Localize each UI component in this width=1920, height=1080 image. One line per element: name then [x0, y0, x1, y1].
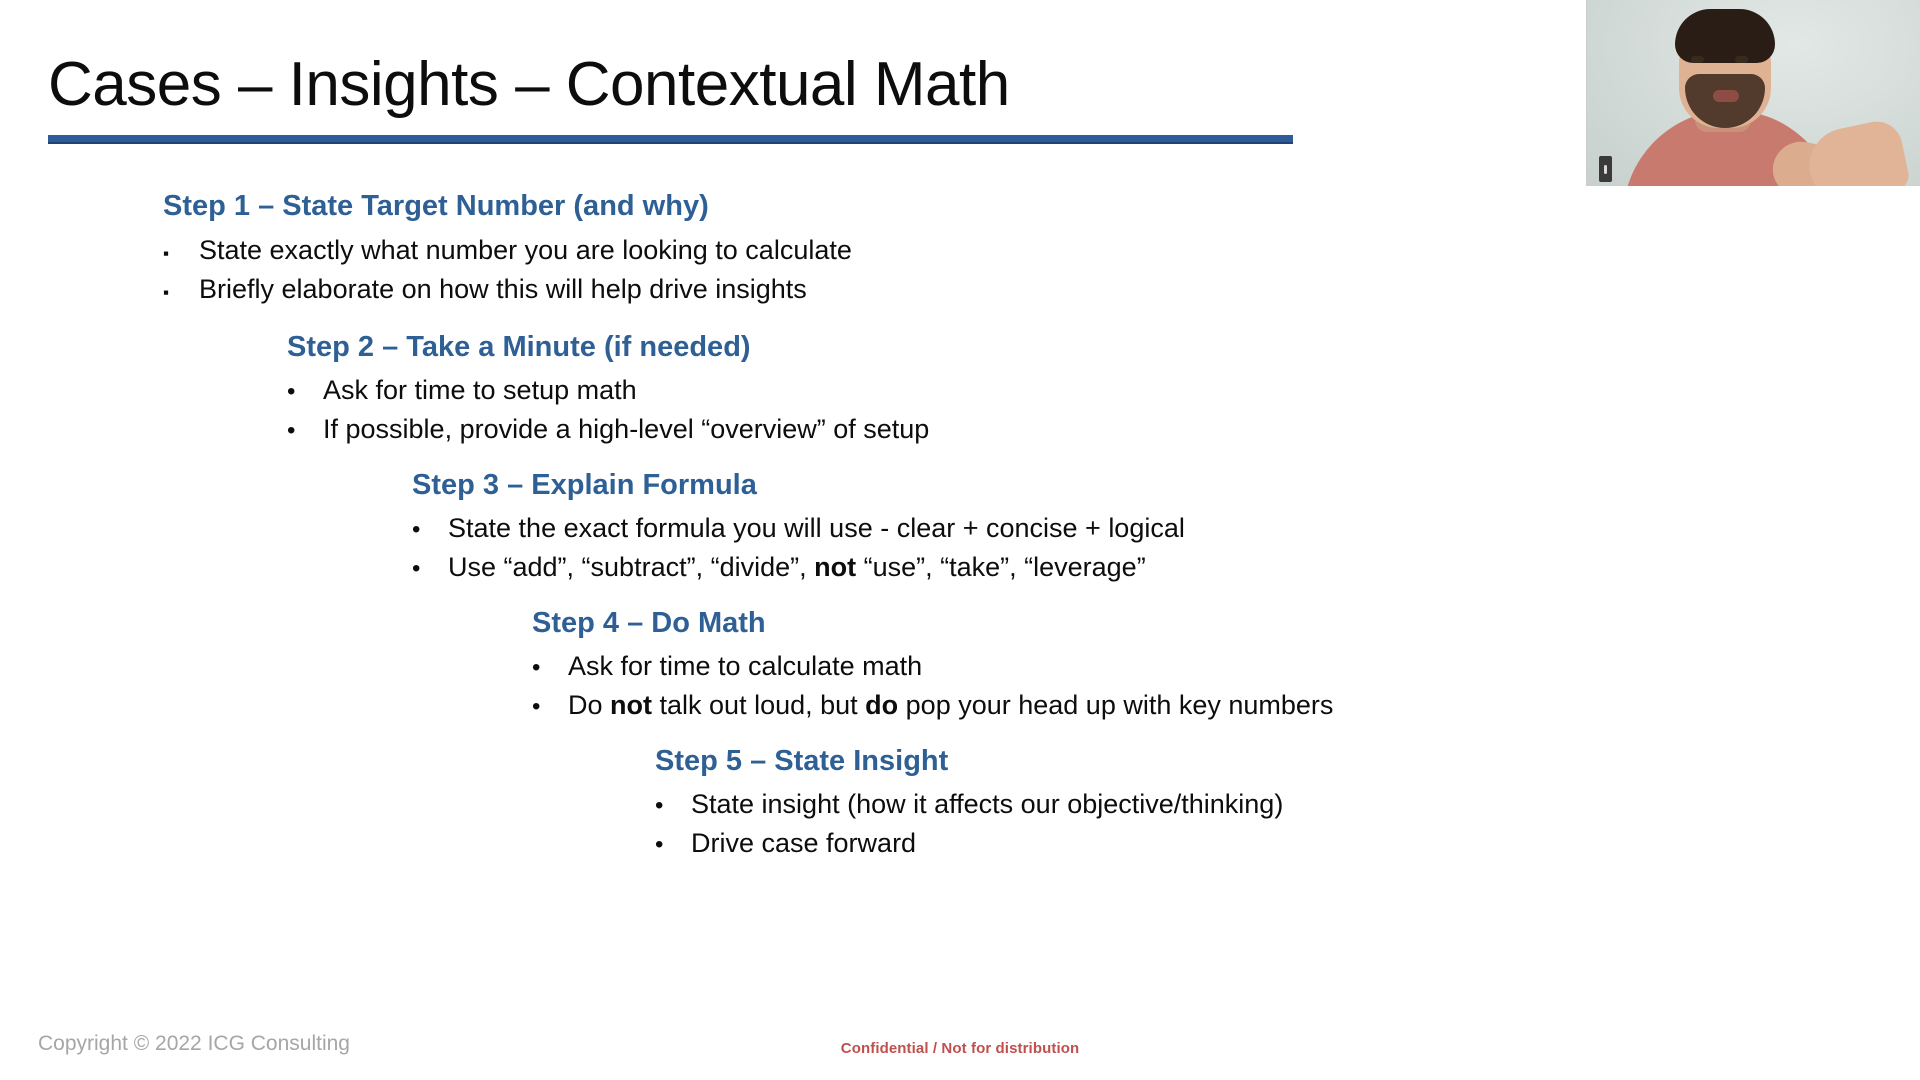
bullet-text: Do not talk out loud, but do pop your he…: [568, 686, 1333, 724]
step-heading-2: Step 2 – Take a Minute (if needed): [287, 329, 929, 365]
presenter-video-overlay[interactable]: [1586, 0, 1920, 186]
bullet-text: Use “add”, “subtract”, “divide”, not “us…: [448, 548, 1146, 586]
round-bullet-icon: •: [287, 414, 323, 448]
bullet-text: Ask for time to setup math: [323, 371, 637, 409]
presenter-hair: [1675, 9, 1775, 63]
bullet-text: State exactly what number you are lookin…: [199, 231, 852, 269]
bullet-text: Ask for time to calculate math: [568, 647, 922, 685]
bullet-text: Briefly elaborate on how this will help …: [199, 270, 807, 308]
round-bullet-icon: •: [412, 552, 448, 586]
step-block-3: Step 3 – Explain Formula • State the exa…: [412, 467, 1185, 586]
step-block-4: Step 4 – Do Math • Ask for time to calcu…: [532, 605, 1333, 724]
round-bullet-icon: •: [412, 513, 448, 547]
step-heading-5: Step 5 – State Insight: [655, 743, 1283, 779]
bullet-item: • Ask for time to calculate math: [532, 647, 1333, 685]
bullet-item: • State the exact formula you will use -…: [412, 509, 1185, 547]
bullet-item: • If possible, provide a high-level “ove…: [287, 410, 929, 448]
bullet-item: • Drive case forward: [655, 824, 1283, 862]
bullet-item: ▪ Briefly elaborate on how this will hel…: [163, 270, 852, 308]
title-underline-rule: [48, 135, 1293, 144]
bullet-item: • Use “add”, “subtract”, “divide”, not “…: [412, 548, 1185, 586]
round-bullet-icon: •: [655, 789, 691, 823]
footer-confidential-notice: Confidential / Not for distribution: [0, 1040, 1920, 1057]
bullet-item: • Ask for time to setup math: [287, 371, 929, 409]
step-block-1: Step 1 – State Target Number (and why) ▪…: [163, 188, 852, 308]
step-heading-4: Step 4 – Do Math: [532, 605, 1333, 641]
presenter-eye-left: [1691, 56, 1704, 63]
round-bullet-icon: •: [532, 651, 568, 685]
bullet-item: • Do not talk out loud, but do pop your …: [532, 686, 1333, 724]
step-block-5: Step 5 – State Insight • State insight (…: [655, 743, 1283, 862]
page-title: Cases – Insights – Contextual Math: [48, 52, 1588, 117]
step-heading-3: Step 3 – Explain Formula: [412, 467, 1185, 503]
presenter-eye-right: [1735, 56, 1748, 63]
bullet-text: Drive case forward: [691, 824, 916, 862]
title-block: Cases – Insights – Contextual Math: [48, 52, 1588, 144]
step-block-2: Step 2 – Take a Minute (if needed) • Ask…: [287, 329, 929, 448]
bullet-item: ▪ State exactly what number you are look…: [163, 231, 852, 269]
step-heading-1: Step 1 – State Target Number (and why): [163, 188, 852, 224]
round-bullet-icon: •: [287, 375, 323, 409]
round-bullet-icon: •: [532, 690, 568, 724]
square-bullet-icon: ▪: [163, 281, 199, 305]
square-bullet-icon: ▪: [163, 242, 199, 266]
bullet-text: If possible, provide a high-level “overv…: [323, 410, 929, 448]
round-bullet-icon: •: [655, 828, 691, 862]
slide-canvas: Cases – Insights – Contextual Math Step …: [0, 0, 1920, 1080]
bullet-item: • State insight (how it affects our obje…: [655, 785, 1283, 823]
bullet-text: State the exact formula you will use - c…: [448, 509, 1185, 547]
presenter-mouth: [1713, 90, 1739, 102]
video-corner-badge-icon: [1599, 156, 1612, 182]
bullet-text: State insight (how it affects our object…: [691, 785, 1283, 823]
